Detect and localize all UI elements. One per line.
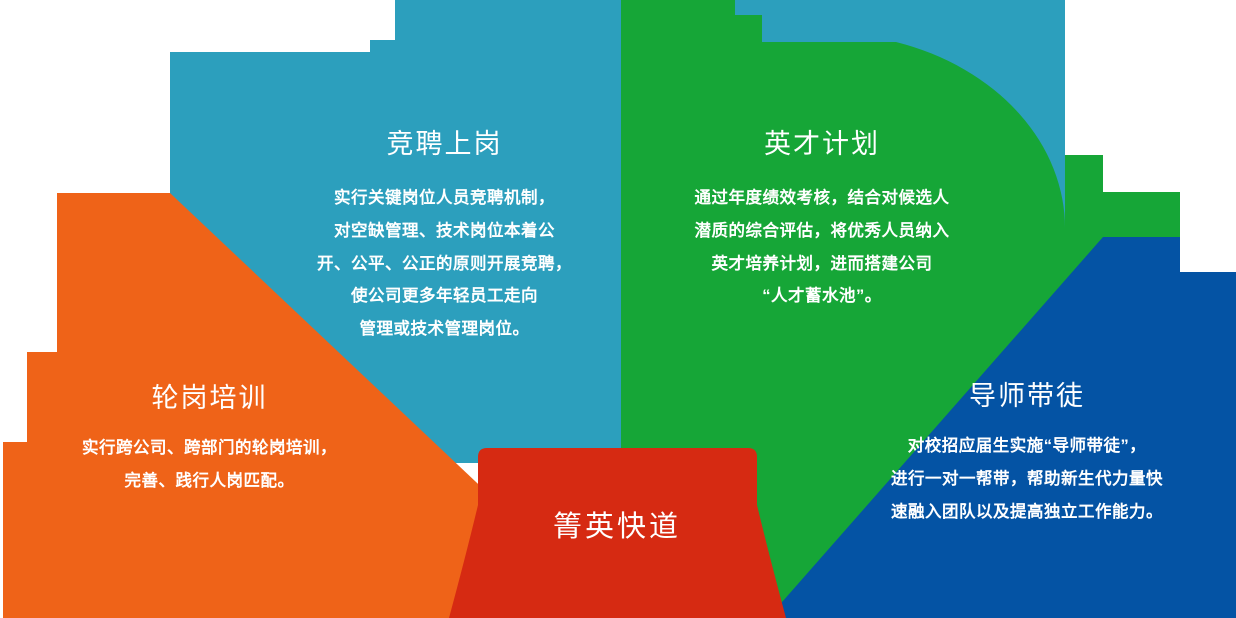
diagram-canvas: 竞聘上岗 实行关键岗位人员竞聘机制， 对空缺管理、技术岗位本着公 开、公平、公正… [0,0,1236,618]
diagram-shapes [0,0,1236,618]
center-badge-shape[interactable] [449,448,786,618]
